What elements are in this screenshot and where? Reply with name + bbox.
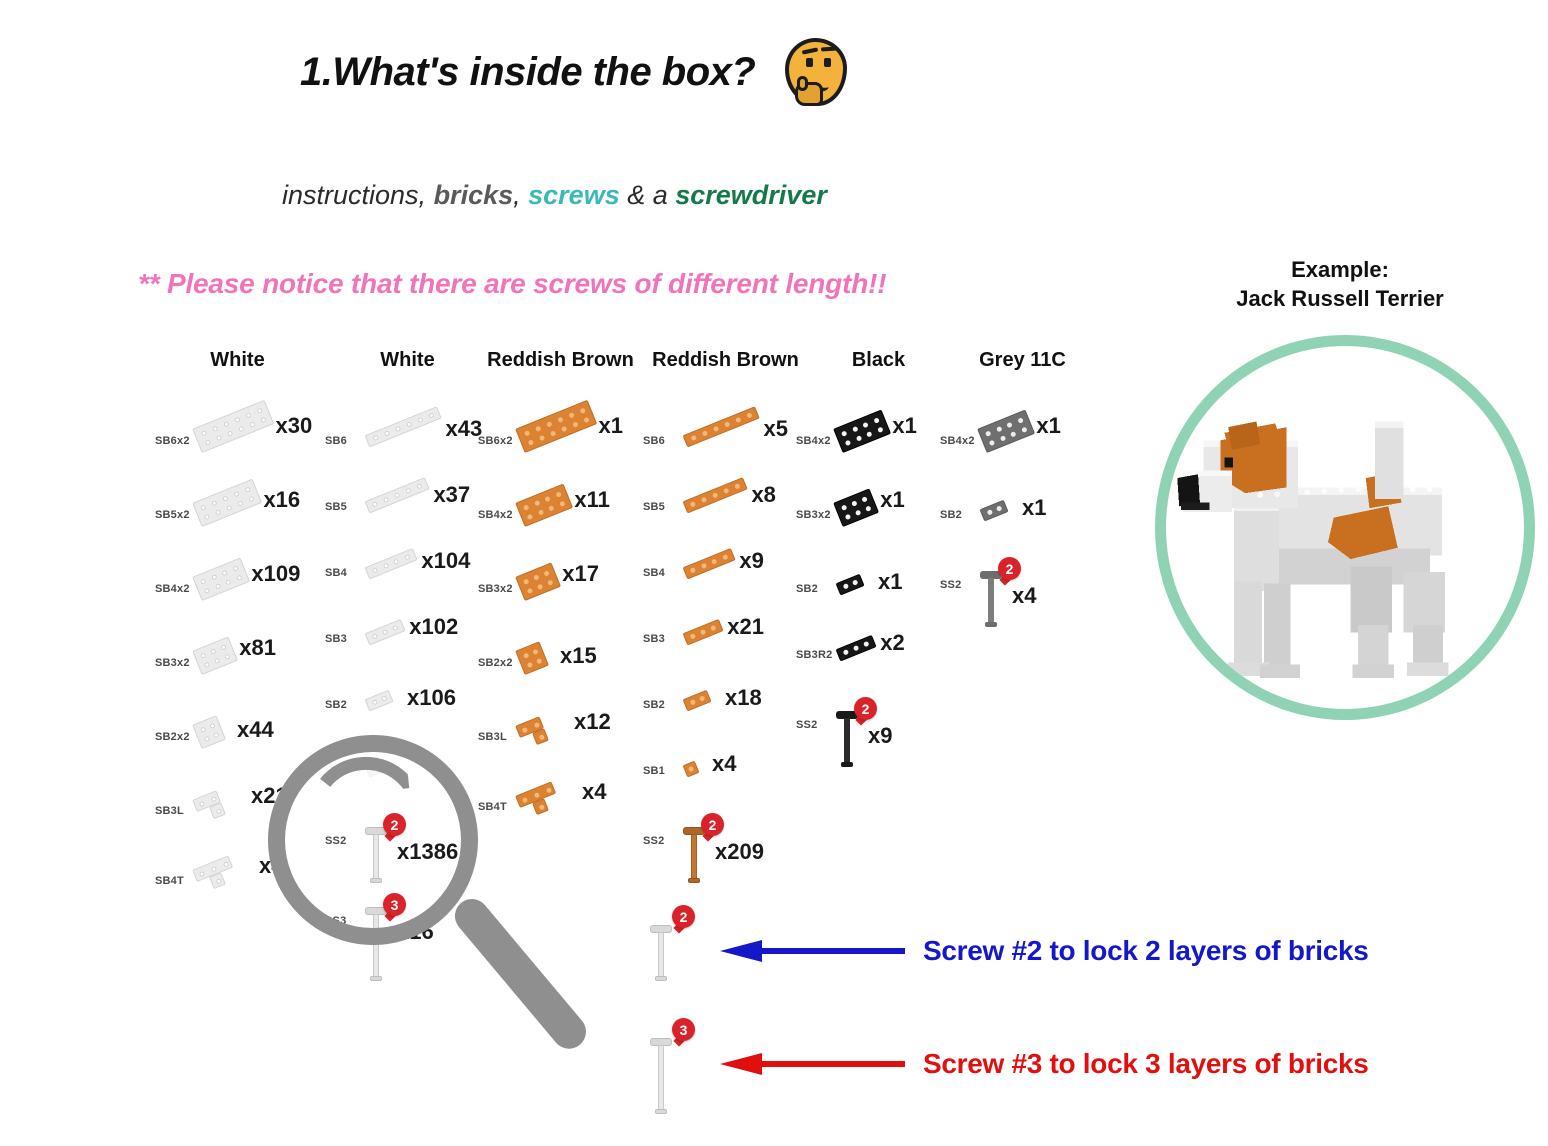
column-items: SB4x2x1SB2x1SS2x42 xyxy=(940,407,1105,627)
part-label: SB4x2 xyxy=(155,583,190,595)
legend-row-screw2: 2 Screw #2 to lock 2 layers of bricks xyxy=(650,905,1369,997)
screw-badge: 3 xyxy=(672,1018,695,1041)
part-label: SB3L xyxy=(478,731,507,743)
part-row: SB3R2x2 xyxy=(796,621,961,691)
part-count: x11 xyxy=(574,487,610,513)
parts-column-white-2: White SB6x43SB5x37SB4x104SB3x102SB2x106S… xyxy=(325,348,490,977)
column-header: Grey 11C xyxy=(940,348,1105,373)
example-label: Example: xyxy=(1190,255,1490,284)
subtitle-screwdriver: screwdriver xyxy=(675,180,827,210)
part-count: x81 xyxy=(239,635,276,661)
part-row: SB2x18 xyxy=(643,671,808,741)
part-row xyxy=(325,737,490,807)
t-brick-graphic xyxy=(192,855,238,894)
part-row: SB2x1 xyxy=(796,555,961,625)
example-breed: Jack Russell Terrier xyxy=(1190,284,1490,313)
part-label: SS2 xyxy=(796,719,817,731)
brick-graphic xyxy=(365,477,430,513)
part-label: SB2 xyxy=(325,699,347,711)
part-count: x104 xyxy=(421,548,470,574)
part-row: SB2x2x15 xyxy=(478,629,643,699)
part-count: x4 xyxy=(712,751,736,777)
part-count: x1 xyxy=(878,569,902,595)
part-count: x8 xyxy=(751,482,775,508)
part-row: SB4x2x1 xyxy=(940,407,1105,477)
part-row: SB2x1 xyxy=(940,481,1105,551)
part-label: SS3 xyxy=(325,915,346,927)
part-count: x102 xyxy=(409,614,458,640)
part-row: SB4x2x11 xyxy=(478,481,643,551)
brick-graphic xyxy=(192,400,274,453)
part-row: SB4x104 xyxy=(325,539,490,609)
part-row: SB3x2x1 xyxy=(796,481,961,551)
part-count: x44 xyxy=(237,717,274,743)
part-label: SB2x2 xyxy=(478,657,513,669)
part-count: x21 xyxy=(727,614,764,640)
part-count: x4 xyxy=(582,779,606,805)
screw-graphic: 3 xyxy=(365,893,425,985)
part-row: SB2x2x44 xyxy=(155,703,320,773)
part-row: SB5x37 xyxy=(325,473,490,543)
screw-graphic: 2 xyxy=(980,557,1040,631)
brick-graphic xyxy=(192,636,238,675)
brick-graphic xyxy=(683,406,760,447)
parts-column-grey-11c: Grey 11C SB4x2x1SB2x1SS2x42 xyxy=(940,348,1105,627)
part-row: SS2x42 xyxy=(940,547,1105,617)
screw-badge: 2 xyxy=(672,905,695,928)
subtitle-comma: , xyxy=(513,180,528,210)
part-label: SB6 xyxy=(643,435,665,447)
column-header: White xyxy=(325,348,490,373)
screw-graphic: 2 xyxy=(836,697,896,771)
brick-graphic xyxy=(365,547,418,579)
subtitle-instructions: instructions, xyxy=(282,180,434,210)
part-label: SB2x2 xyxy=(155,731,190,743)
part-label: SB4x2 xyxy=(796,435,831,447)
column-items: SB4x2x1SB3x2x1SB2x1SB3R2x2SS2x92 xyxy=(796,407,961,767)
part-row: SB3x2x17 xyxy=(478,555,643,625)
legend-text: Screw #2 to lock 2 layers of bricks xyxy=(923,935,1369,967)
brick-graphic xyxy=(515,641,549,675)
part-label: SB3 xyxy=(643,633,665,645)
part-label: SB4T xyxy=(155,875,184,887)
part-label: SB3 xyxy=(325,633,347,645)
t-brick-graphic xyxy=(515,781,561,820)
legend-text: Screw #3 to lock 3 layers of bricks xyxy=(923,1048,1369,1080)
part-row: SB4Tx4 xyxy=(478,773,643,843)
column-items: SB6x2x1SB4x2x11SB3x2x17SB2x2x15SB3Lx12SB… xyxy=(478,407,643,843)
subtitle: instructions, bricks, screws & a screwdr… xyxy=(282,180,827,211)
part-label: SB4x2 xyxy=(478,509,513,521)
part-label: SB5x2 xyxy=(155,509,190,521)
part-row: SB6x43 xyxy=(325,407,490,477)
screw-badge: 3 xyxy=(383,893,406,916)
part-row: SB1x4 xyxy=(643,737,808,807)
part-label: SB2 xyxy=(796,583,818,595)
part-row: SB5x2x16 xyxy=(155,481,320,551)
part-row: SB4x2x109 xyxy=(155,555,320,625)
part-row: SB3x21 xyxy=(643,605,808,675)
brick-graphic xyxy=(833,488,879,527)
part-label: SB6x2 xyxy=(478,435,513,447)
part-count: x43 xyxy=(446,416,483,442)
brick-graphic xyxy=(836,634,877,661)
part-count: x15 xyxy=(560,643,597,669)
part-row: SS2x2092 xyxy=(643,803,808,873)
part-count: x16 xyxy=(263,487,300,513)
brick-graphic xyxy=(977,409,1035,453)
l-brick-graphic xyxy=(192,790,226,824)
part-count: x21 xyxy=(251,783,288,809)
part-row: SB5x8 xyxy=(643,473,808,543)
part-label: SB4x2 xyxy=(940,435,975,447)
part-label: SB6x2 xyxy=(155,435,190,447)
part-count: x9 xyxy=(739,548,763,574)
part-count: x1 xyxy=(1036,413,1060,439)
parts-column-white-1: White SB6x2x30SB5x2x16SB4x2x109SB3x2x81S… xyxy=(155,348,320,917)
part-row: SS3x163 xyxy=(325,883,490,953)
column-items: SB6x43SB5x37SB4x104SB3x102SB2x106SS2x138… xyxy=(325,407,490,977)
legend-arrow xyxy=(720,1053,905,1075)
part-count: x1 xyxy=(599,413,623,439)
title-row: 1.What's inside the box? xyxy=(300,36,853,108)
screw-graphic: 2 xyxy=(365,813,425,887)
subtitle-amp: & a xyxy=(620,180,676,210)
part-row: SB3Lx12 xyxy=(478,703,643,773)
column-header: Reddish Brown xyxy=(478,348,643,373)
legend-arrow xyxy=(720,940,905,962)
example-dog-frame xyxy=(1155,335,1535,720)
part-row: SB4x9 xyxy=(643,539,808,609)
part-label: SB6 xyxy=(325,435,347,447)
brick-graphic xyxy=(683,689,712,711)
part-row: SB6x5 xyxy=(643,407,808,477)
part-label: SB4 xyxy=(643,567,665,579)
part-label: SB4 xyxy=(325,567,347,579)
part-count: x1 xyxy=(892,413,916,439)
l-brick-graphic xyxy=(515,716,549,750)
brick-graphic xyxy=(192,557,250,601)
part-label: SB3x2 xyxy=(796,509,831,521)
page-title: 1.What's inside the box? xyxy=(300,50,755,95)
parts-column-reddish-brown-2: Reddish Brown SB6x5SB5x8SB4x9SB3x21SB2x1… xyxy=(643,348,808,883)
part-label: SB1 xyxy=(643,765,665,777)
brick-graphic xyxy=(683,477,748,513)
part-label: SB2 xyxy=(940,509,962,521)
part-row: SB2x106 xyxy=(325,671,490,741)
column-header: Reddish Brown xyxy=(643,348,808,373)
part-count: x109 xyxy=(251,561,300,587)
column-header: Black xyxy=(796,348,961,373)
brick-graphic xyxy=(683,760,700,777)
part-row: SB6x2x1 xyxy=(478,407,643,477)
brick-graphic xyxy=(833,409,891,453)
part-label: SB3x2 xyxy=(478,583,513,595)
part-row: SB3x102 xyxy=(325,605,490,675)
subtitle-screws: screws xyxy=(528,180,620,210)
part-row: SB3Lx21 xyxy=(155,777,320,847)
screw3-illustration: 3 xyxy=(650,1018,708,1110)
parts-column-reddish-brown-1: Reddish Brown SB6x2x1SB4x2x11SB3x2x17SB2… xyxy=(478,348,643,843)
brick-graphic xyxy=(980,499,1009,521)
part-count: x17 xyxy=(562,561,599,587)
screw-badge: 2 xyxy=(701,813,724,836)
parts-column-black: Black SB4x2x1SB3x2x1SB2x1SB3R2x2SS2x92 xyxy=(796,348,961,767)
column-items: SB6x5SB5x8SB4x9SB3x21SB2x18SB1x4SS2x2092 xyxy=(643,407,808,883)
brick-graphic xyxy=(192,479,262,527)
example-caption: Example: Jack Russell Terrier xyxy=(1190,255,1490,313)
part-row: SB3x2x81 xyxy=(155,629,320,699)
part-row: SB6x2x30 xyxy=(155,407,320,477)
brick-graphic xyxy=(365,689,394,711)
part-label: SS2 xyxy=(940,579,961,591)
part-count: x30 xyxy=(276,413,313,439)
subtitle-bricks: bricks xyxy=(434,180,514,210)
brick-graphic xyxy=(683,618,724,645)
part-label: SB5 xyxy=(325,501,347,513)
part-count: x5 xyxy=(764,416,788,442)
part-count: x37 xyxy=(433,482,470,508)
part-count: x106 xyxy=(407,685,456,711)
part-label: SB4T xyxy=(478,801,507,813)
legend-row-screw3: 3 Screw #3 to lock 3 layers of bricks xyxy=(650,1018,1369,1110)
part-label: SB5 xyxy=(643,501,665,513)
part-count: x1 xyxy=(880,487,904,513)
part-row: SS2x92 xyxy=(796,687,961,757)
jack-russell-terrier-brick-model xyxy=(1166,346,1524,709)
part-row: SB4x2x1 xyxy=(796,407,961,477)
screw-badge: 2 xyxy=(383,813,406,836)
part-label: SB2 xyxy=(643,699,665,711)
notice-text: ** Please notice that there are screws o… xyxy=(138,268,886,300)
screw-badge: 2 xyxy=(998,557,1021,580)
brick-graphic xyxy=(365,406,442,447)
brick-graphic xyxy=(192,715,226,749)
brick-graphic xyxy=(365,760,382,777)
part-label: SS2 xyxy=(643,835,664,847)
part-label: SS2 xyxy=(325,835,346,847)
part-count: x2 xyxy=(880,630,904,656)
part-count: x4 xyxy=(259,853,283,879)
part-count: x12 xyxy=(574,709,611,735)
screw-graphic: 2 xyxy=(683,813,743,887)
instruction-sheet: 1.What's inside the box? instructions, b… xyxy=(0,0,1548,1146)
part-row: SS2x13862 xyxy=(325,803,490,873)
brick-graphic xyxy=(515,400,597,453)
part-row: SB4Tx4 xyxy=(155,847,320,917)
brick-graphic xyxy=(515,483,573,527)
column-header: White xyxy=(155,348,320,373)
screw-badge: 2 xyxy=(854,697,877,720)
part-count: x18 xyxy=(725,685,762,711)
part-count: x1 xyxy=(1022,495,1046,521)
brick-graphic xyxy=(683,547,736,579)
thinking-face-icon xyxy=(781,36,853,108)
brick-graphic xyxy=(836,573,865,595)
brick-graphic xyxy=(365,618,406,645)
part-label: SB3x2 xyxy=(155,657,190,669)
part-label: SB3R2 xyxy=(796,649,832,661)
brick-graphic xyxy=(515,562,561,601)
part-label: SB3L xyxy=(155,805,184,817)
screw2-illustration: 2 xyxy=(650,905,708,997)
column-items: SB6x2x30SB5x2x16SB4x2x109SB3x2x81SB2x2x4… xyxy=(155,407,320,917)
